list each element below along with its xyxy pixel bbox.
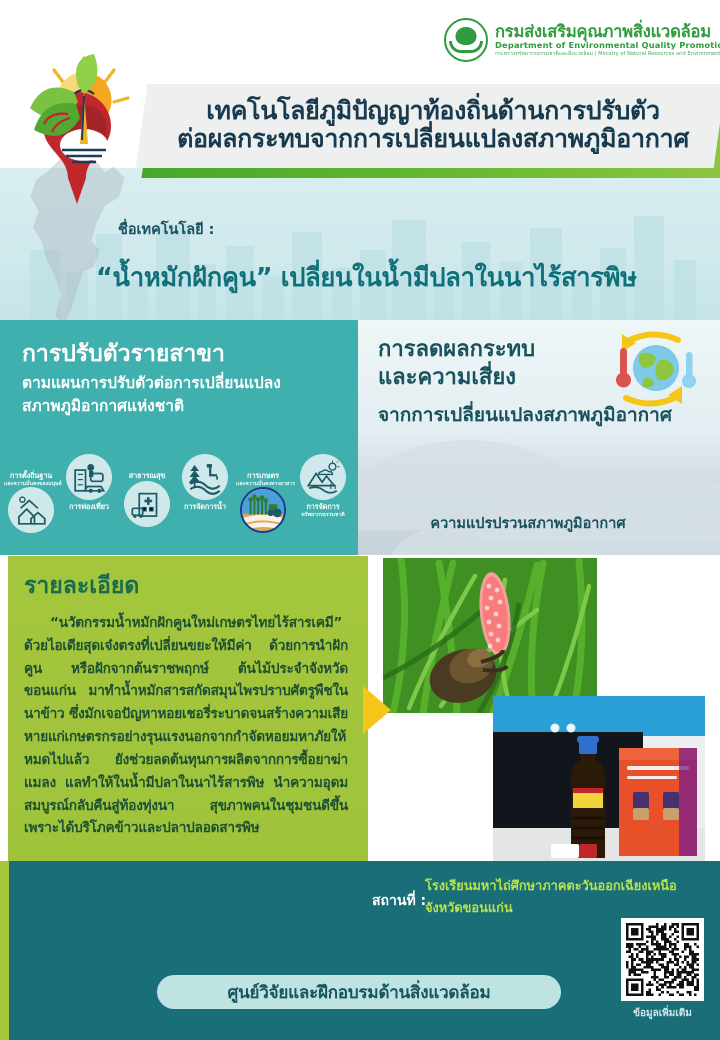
natural-resources-mountain-icon <box>300 454 346 500</box>
details-body: “นวัตกรรมน้ำหมักฝักคูนใหม่เกษตรไทยไร้สาร… <box>24 612 348 840</box>
mitigation-heading-line2: และความเสี่ยง <box>378 364 535 392</box>
adaptation-subheading: ตามแผนการปรับตัวต่อการเปลี่ยนแปลงสภาพภูม… <box>22 372 352 419</box>
deqp-logo: กรมส่งเสริมคุณภาพสิ่งแวดล้อม Department … <box>444 18 720 62</box>
sector-item-4[interactable]: การเกษตรและความมั่นคงทางอาหาร <box>236 472 290 533</box>
title-line-1: เทคโนโลยีภูมิปัญญาท้องถิ่นด้านการปรับตัว <box>206 97 659 125</box>
page-title: เทคโนโลยีภูมิปัญญาท้องถิ่นด้านการปรับตัว… <box>150 86 716 164</box>
yellow-right-arrow-icon <box>363 686 391 734</box>
adaptation-subheading-line: สภาพภูมิอากาศแห่งชาติ <box>22 395 352 418</box>
sector-label: การตั้งถิ่นฐานและความมั่นคงของมนุษย์ <box>4 472 58 487</box>
sector-label-main: การเกษตร <box>236 472 290 481</box>
location-value: โรงเรียนมหาไถ่ศึกษาภาคตะวันออกเฉียงเหนือ… <box>425 876 690 920</box>
footer-pill-button[interactable]: ศูนย์วิจัยและฝึกอบรมด้านสิ่งแวดล้อม <box>157 975 561 1009</box>
public-health-hospital-icon <box>124 481 170 527</box>
sector-label-main: การตั้งถิ่นฐาน <box>4 472 58 481</box>
sector-label: การเกษตรและความมั่นคงทางอาหาร <box>236 472 290 487</box>
mitigation-heading-line1: การลดผลกระทบ <box>378 336 535 364</box>
sector-item-3[interactable]: การจัดการน้ำ <box>178 454 232 512</box>
sector-label-main: การท่องเที่ยว <box>62 503 116 512</box>
footer-pill-label: ศูนย์วิจัยและฝึกอบรมด้านสิ่งแวดล้อม <box>228 979 491 1006</box>
sector-label-sub: และความมั่นคงทางอาหาร <box>236 481 290 487</box>
sector-label: การท่องเที่ยว <box>62 503 116 512</box>
org-name-th: กรมส่งเสริมคุณภาพสิ่งแวดล้อม <box>495 23 720 40</box>
poster-root: เทคโนโลยีภูมิปัญญาท้องถิ่นด้านการปรับตัว… <box>0 0 720 1040</box>
qr-code-svg <box>626 923 699 996</box>
details-heading: รายละเอียด <box>24 568 139 604</box>
sector-item-1[interactable]: การท่องเที่ยว <box>62 454 116 512</box>
title-line-2: ต่อผลกระทบจากการเปลี่ยนแปลงสภาพภูมิอากาศ <box>177 125 689 153</box>
sector-item-5[interactable]: การจัดการทรัพยากรธรรมชาติ <box>296 454 350 518</box>
sector-label-sub: ทรัพยากรธรรมชาติ <box>296 512 350 518</box>
settlement-houses-icon <box>8 487 54 533</box>
tourism-city-car-icon <box>66 454 112 500</box>
sector-label: การจัดการน้ำ <box>178 503 232 512</box>
lightbulb-leaf-map-pin-icon <box>18 52 148 227</box>
sector-item-2[interactable]: สาธารณสุข <box>120 472 174 527</box>
climate-variability-note: ความแปรปรวนสภาพภูมิอากาศ <box>378 512 678 535</box>
sector-label: สาธารณสุข <box>120 472 174 481</box>
qr-caption: ข้อมูลเพิ่มเติม <box>615 1006 710 1021</box>
mitigation-heading: การลดผลกระทบ และความเสี่ยง <box>378 336 535 392</box>
adaptation-heading: การปรับตัวรายสาขา <box>22 336 225 372</box>
water-management-tap-river-icon <box>182 454 228 500</box>
technology-label: ชื่อเทคโนโลยี : <box>118 218 214 241</box>
sector-label-main: สาธารณสุข <box>120 472 174 481</box>
org-ministry: กระทรวงทรัพยากรธรรมชาติและสิ่งแวดล้อม | … <box>495 52 720 57</box>
sector-label-main: การจัดการน้ำ <box>178 503 232 512</box>
footer-green-strip <box>0 861 9 1040</box>
sector-label: การจัดการทรัพยากรธรรมชาติ <box>296 503 350 518</box>
technology-name: “น้ำหมักฝักคูน” เปลี่ยนในน้ำมีปลาในนาไร้… <box>96 258 696 298</box>
location-line-1: โรงเรียนมหาไถ่ศึกษาภาคตะวันออกเฉียงเหนือ <box>425 876 690 898</box>
adaptation-subheading-line: ตามแผนการปรับตัวต่อการเปลี่ยนแปลง <box>22 372 352 395</box>
org-name-en: Department of Environmental Quality Prom… <box>495 41 720 50</box>
agriculture-field-tractor-icon <box>240 487 286 533</box>
deqp-tree-seal-icon <box>444 18 488 62</box>
location-label: สถานที่ : <box>372 890 426 912</box>
fermented-extract-bottle-exhibit-photo <box>493 696 705 861</box>
qr-code-icon[interactable] <box>621 918 704 1001</box>
globe-thermometer-icon <box>600 330 704 408</box>
sector-item-0[interactable]: การตั้งถิ่นฐานและความมั่นคงของมนุษย์ <box>4 472 58 533</box>
sector-icon-strip: การตั้งถิ่นฐานและความมั่นคงของมนุษย์การท… <box>0 450 358 555</box>
sector-label-main: การจัดการ <box>296 503 350 512</box>
golden-apple-snail-rice-field-photo <box>383 558 597 713</box>
location-line-2: จังหวัดขอนแก่น <box>425 898 690 920</box>
sector-label-sub: และความมั่นคงของมนุษย์ <box>4 481 58 487</box>
